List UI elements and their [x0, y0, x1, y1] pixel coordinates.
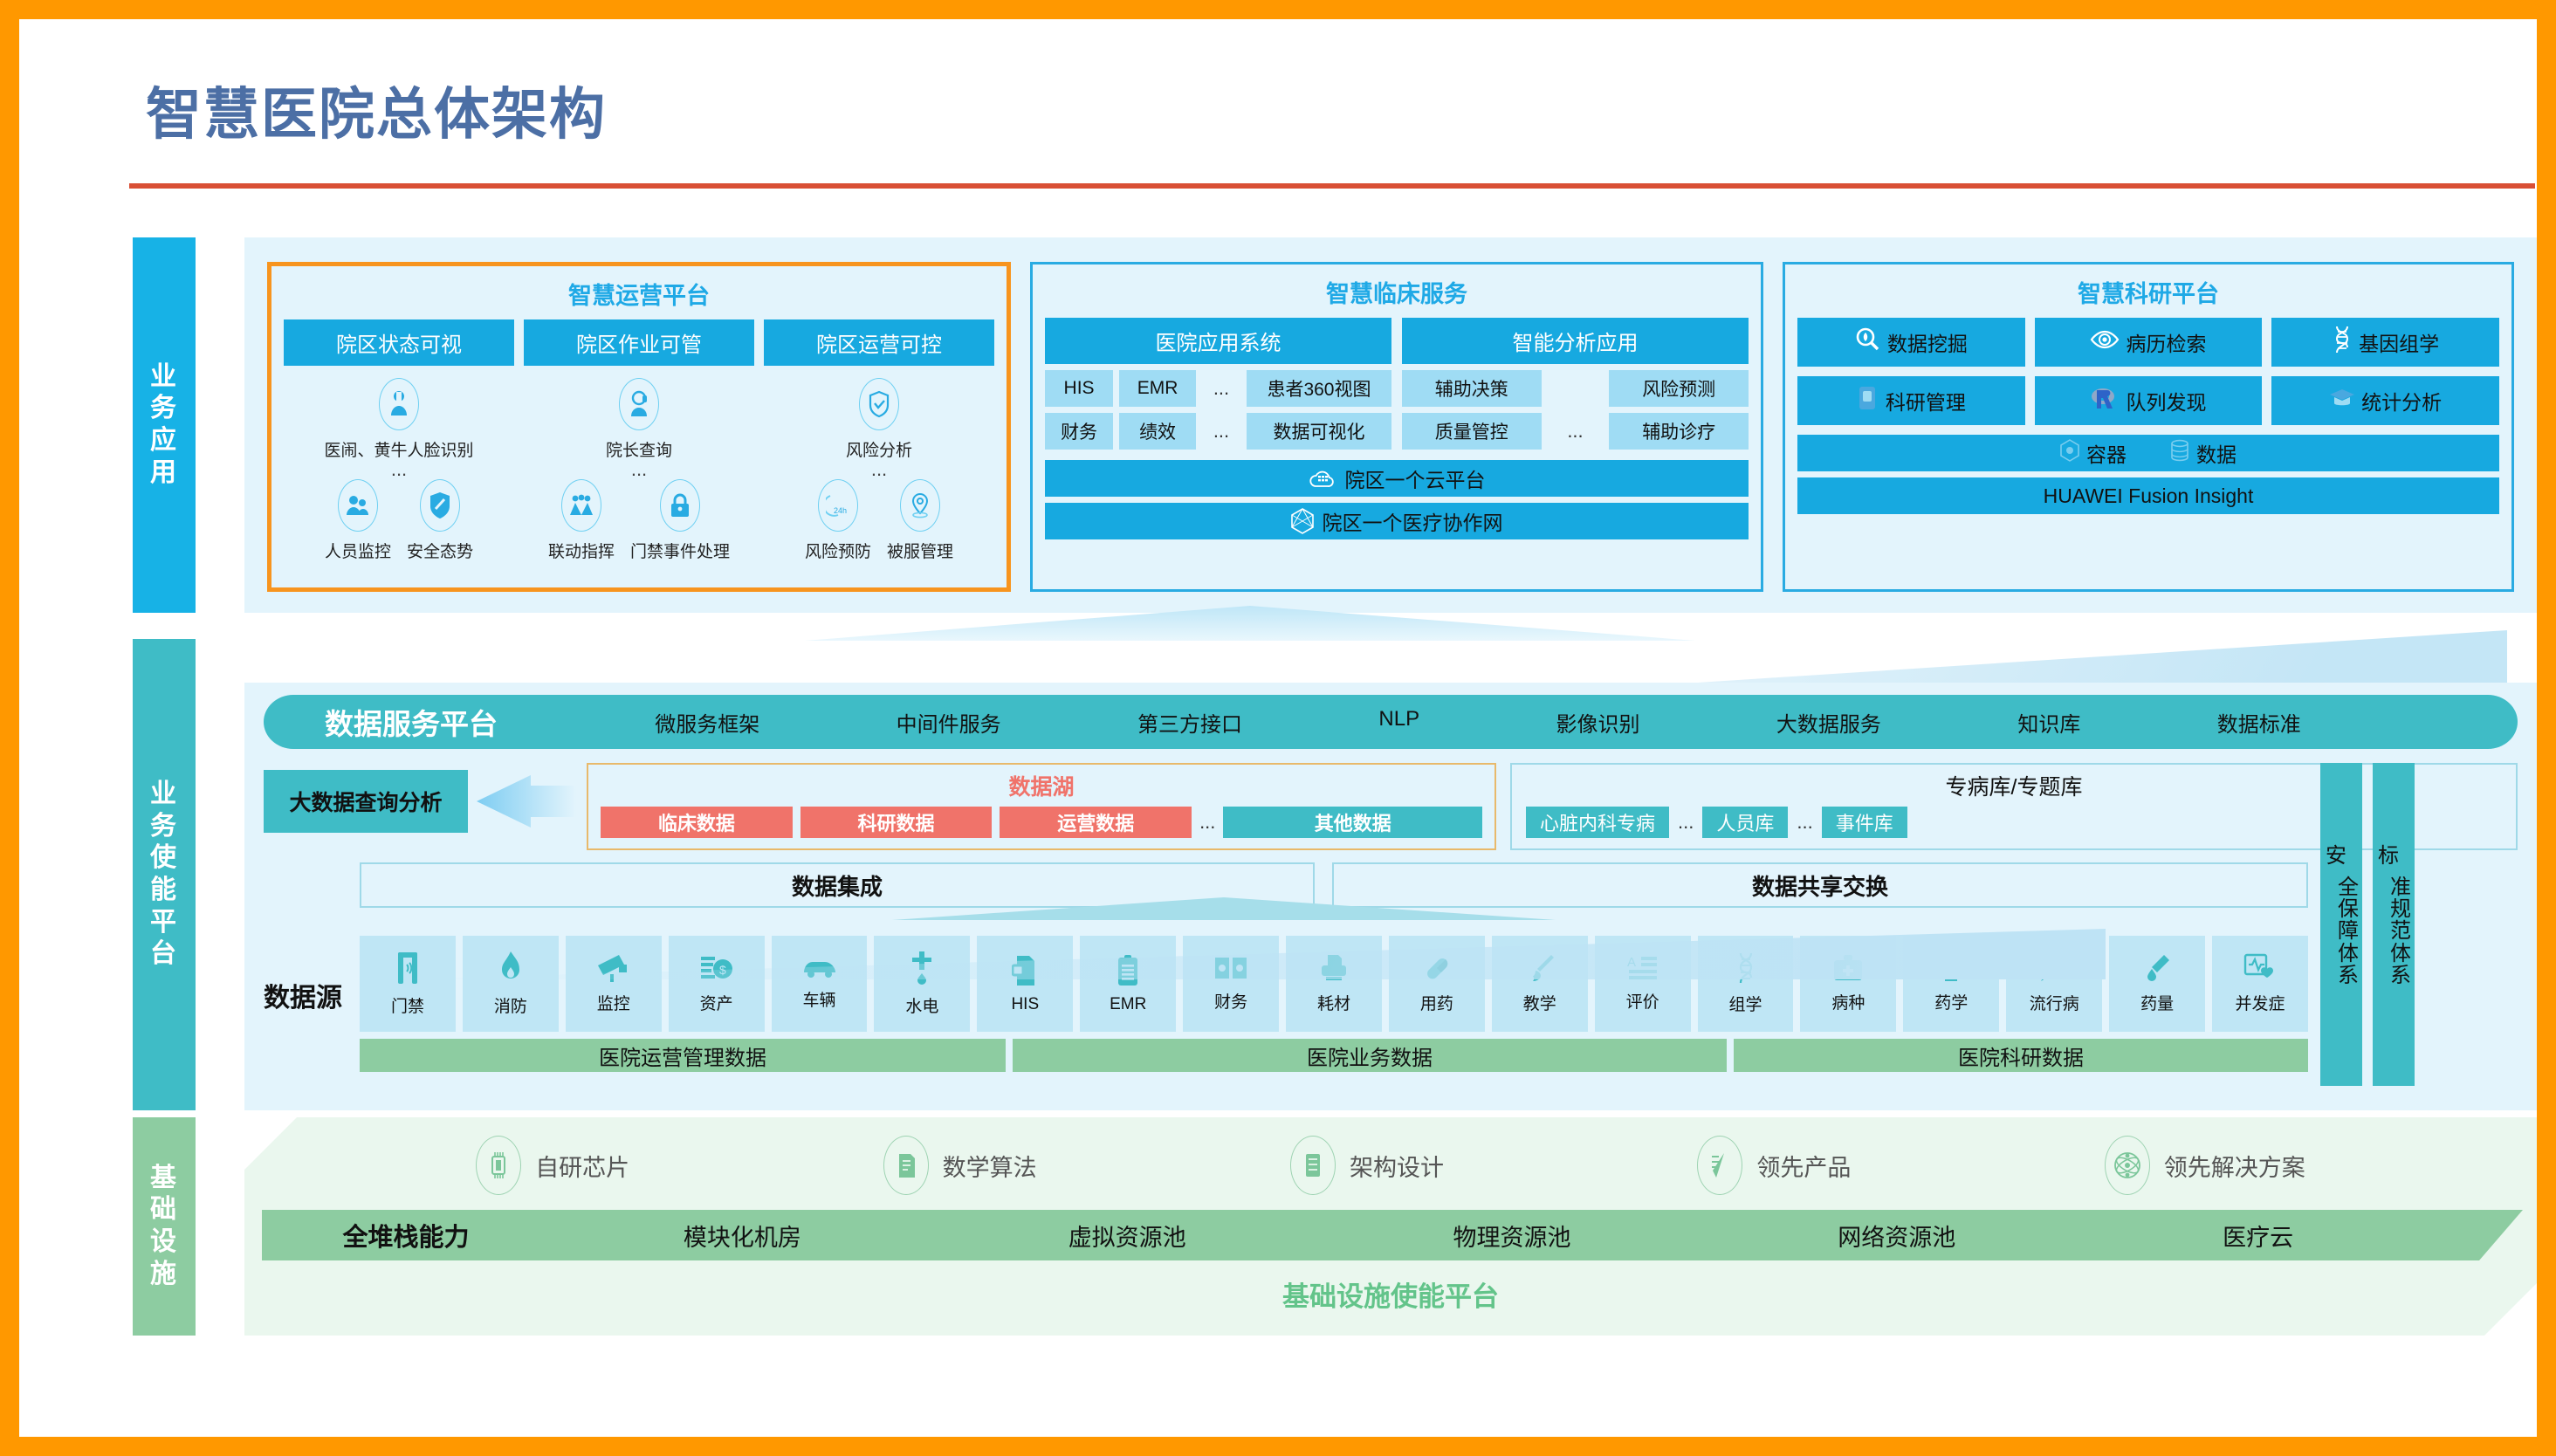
ops-column: 院区状态可视 医闹、黄牛人脸识别 ... 人员监控 安全态势 [284, 319, 514, 562]
analysis-cell[interactable]: 辅助诊疗 [1609, 413, 1749, 450]
people-monitor-icon [338, 479, 378, 532]
capability-algorithm[interactable]: 数学算法 [883, 1136, 1037, 1195]
data-lake-chip[interactable]: 临床数据 [601, 807, 793, 838]
rail-label: 基础设施 [149, 1163, 179, 1290]
ellipsis: ... [1678, 811, 1694, 834]
research-cell-cohort-discovery[interactable]: 队列发现 [2035, 376, 2263, 425]
team-command-icon [561, 479, 601, 532]
data-service-platform-title: 数据服务平台 [325, 701, 587, 743]
big-data-query-box[interactable]: 大数据查询分析 [264, 770, 468, 833]
capability-label: 数学算法 [943, 1149, 1037, 1183]
research-cell-label: 队列发现 [2126, 386, 2206, 416]
clinical-bar-label: 院区一个医疗协作网 [1323, 506, 1503, 536]
source-label: 流行病 [2030, 991, 2079, 1014]
clinical-bar-label: 院区一个云平台 [1345, 464, 1486, 493]
ellipsis: ... [1199, 811, 1215, 834]
app-cell[interactable]: 患者360视图 [1247, 370, 1391, 407]
special-disease-db-box: 专病库/专题库 心脏内科专病 ... 人员库 ... 事件库 [1510, 763, 2518, 850]
capability-solution[interactable]: 领先解决方案 [2105, 1136, 2305, 1195]
resource-pool-item[interactable]: 物理资源池 [1453, 1219, 1570, 1253]
data-lake-other-chip[interactable]: 其他数据 [1223, 807, 1482, 838]
ops-sub-label: 被服管理 [887, 539, 953, 562]
ops-primary-label: 医闹、黄牛人脸识别 [284, 437, 514, 461]
infrastructure-footer-label: 基础设施使能平台 [244, 1274, 2537, 1314]
capability-product[interactable]: 领先产品 [1697, 1136, 1851, 1195]
dsp-item[interactable]: 第三方接口 [1137, 707, 1242, 738]
app-cell[interactable]: 绩效 [1119, 413, 1196, 450]
architecture-rack-icon [1290, 1136, 1336, 1195]
source-label: 监控 [597, 991, 630, 1014]
vertical-band-standards: 标 准规范体系 [2373, 763, 2415, 1086]
dsp-item[interactable]: 中间件服务 [897, 707, 1001, 738]
group-business-data: 医院业务数据 [1013, 1039, 1727, 1072]
data-lake-chip[interactable]: 运营数据 [1000, 807, 1192, 838]
title-divider [129, 183, 2535, 189]
resource-pool-item[interactable]: 网络资源池 [1838, 1219, 1955, 1253]
source-label: 病种 [1831, 990, 1865, 1013]
dsp-item[interactable]: 大数据服务 [1776, 707, 1881, 738]
data-lake-title: 数据湖 [588, 770, 1494, 801]
ops-sub-label: 门禁事件处理 [630, 539, 730, 562]
rail-business-application: 业务应用 [133, 237, 196, 613]
dsp-item[interactable]: 微服务框架 [655, 707, 759, 738]
ops-column: 院区作业可管 院长查询 ... 联动指挥 门禁事件处理 [524, 319, 754, 562]
source-label: 车辆 [803, 987, 836, 1011]
analysis-cell[interactable]: 辅助决策 [1402, 370, 1542, 407]
capability-label: 领先产品 [1756, 1149, 1851, 1183]
special-db-chip[interactable]: 心脏内科专病 [1526, 807, 1669, 838]
ops-column: 院区运营可控 风险分析 ... 24h 风险预防 被服管理 [764, 319, 994, 562]
panel-clinical-service: 智慧临床服务 医院应用系统 HIS EMR ... 患者360视图 财务 绩效 … [1030, 262, 1763, 592]
r-language-icon [2090, 385, 2120, 416]
cctv-camera-icon [596, 953, 631, 987]
source-label: 评价 [1626, 989, 1659, 1013]
algorithm-doc-icon [883, 1136, 929, 1195]
data-source-label: 数据源 [264, 976, 342, 1014]
source-complication[interactable]: 并发症 [2212, 936, 2308, 1032]
location-pin-icon [900, 479, 940, 532]
eye-record-icon [2090, 329, 2120, 355]
research-cell-statistics[interactable]: 统计分析 [2271, 376, 2499, 425]
ops-sub-label: 风险预防 [805, 539, 871, 562]
dsp-item[interactable]: 影像识别 [1556, 707, 1640, 738]
ellipsis: ... [1548, 413, 1604, 450]
ecg-heart-icon [2243, 953, 2277, 987]
research-cell-research-mgmt[interactable]: 科研管理 [1797, 376, 2025, 425]
resource-pool-item[interactable]: 医疗云 [2223, 1219, 2293, 1253]
ellipsis [1548, 370, 1604, 407]
research-bar-label: 容器 [2086, 438, 2127, 468]
research-cell-data-mining[interactable]: 数据挖掘 [1797, 318, 2025, 367]
source-his[interactable]: HIS [977, 936, 1073, 1032]
research-cell-record-search[interactable]: 病历检索 [2035, 318, 2263, 367]
person-badge-icon [379, 378, 419, 430]
source-label: 消防 [494, 993, 527, 1017]
clock-24h-icon: 24h [818, 479, 858, 532]
ellipsis: ... [1202, 370, 1240, 407]
vertical-band-security: 安 全保障体系 [2320, 763, 2362, 1086]
clinical-right-group: 智能分析应用 辅助决策 风险预测 质量管控 ... 辅助诊疗 [1402, 318, 1749, 450]
shield-status-icon [420, 479, 460, 532]
clinical-right-header[interactable]: 智能分析应用 [1402, 318, 1749, 364]
capability-label: 架构设计 [1350, 1149, 1444, 1183]
source-label: 教学 [1523, 991, 1556, 1014]
app-cell[interactable]: HIS [1045, 370, 1113, 407]
source-label: EMR [1110, 995, 1146, 1014]
analysis-cell[interactable]: 风险预测 [1609, 370, 1749, 407]
graduation-cap-icon [2329, 387, 2355, 415]
data-lake-chip[interactable]: 科研数据 [800, 807, 993, 838]
special-db-title: 专病库/专题库 [1512, 770, 2516, 801]
rail-label: 业务使能平台 [149, 779, 179, 971]
source-label: 财务 [1214, 989, 1247, 1013]
research-infra-bar[interactable]: 容器 数据 [1797, 435, 2499, 471]
capability-label: 自研芯片 [535, 1149, 629, 1183]
group-research-data: 医院科研数据 [1734, 1039, 2308, 1072]
data-service-platform-bar: 数据服务平台 微服务框架 中间件服务 第三方接口 NLP 影像识别 大数据服务 … [264, 695, 2518, 749]
research-cell-label: 科研管理 [1886, 386, 1966, 416]
ops-primary-label: 风险分析 [764, 437, 994, 461]
group-operation-data: 医院运营管理数据 [360, 1039, 1006, 1072]
panel-research-platform: 智慧科研平台 数据挖掘 病历检索 基因组学 科研管理 [1783, 262, 2514, 592]
gate-access-icon [395, 951, 421, 990]
source-gate[interactable]: 门禁 [360, 936, 456, 1032]
research-cell-label: 统计分析 [2361, 386, 2442, 416]
panel-title: 智慧临床服务 [1033, 275, 1761, 309]
source-label: 资产 [700, 991, 733, 1014]
research-cell-label: 基因组学 [2359, 327, 2439, 357]
rail-infrastructure: 基础设施 [133, 1117, 196, 1336]
source-label: 门禁 [391, 993, 424, 1017]
ops-column-header[interactable]: 院区作业可管 [524, 319, 754, 366]
lock-icon [660, 479, 700, 532]
flow-arrow-left-icon [470, 773, 576, 829]
solution-globe-icon [2105, 1136, 2150, 1195]
section-business-application: 智慧运营平台 院区状态可视 医闹、黄牛人脸识别 ... 人员监控 [244, 237, 2537, 613]
source-finance[interactable]: 财务 [1183, 936, 1279, 1032]
app-cell[interactable]: 财务 [1045, 413, 1113, 450]
container-cube-icon [2060, 439, 2079, 467]
data-service-platform-items: 微服务框架 中间件服务 第三方接口 NLP 影像识别 大数据服务 知识库 数据标… [587, 707, 2518, 738]
research-cell-label: 数据挖掘 [1887, 327, 1968, 357]
source-label: 组学 [1729, 992, 1762, 1015]
clinical-cloud-bar[interactable]: 院区一个云平台 [1045, 460, 1749, 497]
rail-enablement-platform: 业务使能平台 [133, 639, 196, 1110]
cloud-platform-icon [1309, 467, 1336, 490]
database-icon [2170, 439, 2189, 467]
special-db-chip[interactable]: 事件库 [1822, 807, 1907, 838]
research-cell-label: 病历检索 [2126, 327, 2206, 357]
ops-column-header[interactable]: 院区状态可视 [284, 319, 514, 366]
leading-product-icon [1697, 1136, 1742, 1195]
capability-chip[interactable]: 自研芯片 [476, 1136, 629, 1195]
ops-column-header[interactable]: 院区运营可控 [764, 319, 994, 366]
special-db-chip[interactable]: 人员库 [1702, 807, 1788, 838]
research-bar-label: 数据 [2196, 438, 2236, 468]
source-cctv[interactable]: 监控 [566, 936, 662, 1032]
ellipsis: ... [764, 463, 994, 476]
page-title: 智慧医院总体架构 [146, 70, 607, 150]
rail-label: 业务应用 [149, 361, 179, 489]
band-head: 标 [2378, 838, 2399, 869]
headset-agent-icon [619, 378, 659, 430]
dsp-item[interactable]: 知识库 [2017, 707, 2080, 738]
capability-label: 领先解决方案 [2164, 1149, 2305, 1183]
architecture-diagram: 智慧医院总体架构 业务应用 业务使能平台 基础设施 智慧运营平台 院区状态可视 … [19, 19, 2537, 1437]
source-vehicle[interactable]: 车辆 [772, 936, 868, 1032]
dropper-icon [2143, 953, 2171, 987]
research-cell-genomics[interactable]: 基因组学 [2271, 318, 2499, 367]
app-cell[interactable]: 数据可视化 [1247, 413, 1391, 450]
infrastructure-capabilities: 自研芯片 数学算法 架构设计 领先产品 领先解决方案 [244, 1128, 2537, 1203]
source-fire[interactable]: 消防 [463, 936, 559, 1032]
panel-title: 智慧科研平台 [1785, 275, 2511, 309]
ellipsis: ... [1202, 413, 1240, 450]
dna-icon [2332, 326, 2353, 359]
dsp-item[interactable]: NLP [1378, 707, 1419, 738]
band-rest: 全保障体系 [2338, 876, 2360, 986]
chip-icon [476, 1136, 521, 1195]
network-mesh-icon [1291, 508, 1314, 534]
section-enablement-platform: 数据服务平台 微服务框架 中间件服务 第三方接口 NLP 影像识别 大数据服务 … [244, 683, 2537, 1110]
clinical-network-bar[interactable]: 院区一个医疗协作网 [1045, 503, 1749, 539]
app-cell[interactable]: EMR [1119, 370, 1196, 407]
source-dosage[interactable]: 药量 [2109, 936, 2205, 1032]
data-sharing-exchange-box[interactable]: 数据共享交换 [1332, 862, 2308, 908]
data-lake-box: 数据湖 临床数据 科研数据 运营数据 ... 其他数据 [587, 763, 1496, 850]
clinical-left-header[interactable]: 医院应用系统 [1045, 318, 1391, 364]
clinical-left-group: 医院应用系统 HIS EMR ... 患者360视图 财务 绩效 ... 数据可… [1045, 318, 1391, 450]
band-rest: 准规范体系 [2390, 876, 2413, 986]
dsp-item[interactable]: 数据标准 [2217, 707, 2301, 738]
ops-primary-label: 院长查询 [524, 437, 754, 461]
ellipsis: ... [284, 463, 514, 476]
band-head: 安 [2326, 838, 2346, 869]
ellipsis: ... [1797, 811, 1812, 834]
folder-research-icon [1857, 385, 1879, 416]
ops-sub-label: 联动指挥 [548, 539, 615, 562]
source-label: 药量 [2140, 991, 2174, 1014]
source-label: 并发症 [2235, 991, 2285, 1014]
analysis-cell[interactable]: 质量管控 [1402, 413, 1542, 450]
fire-flame-icon [499, 951, 522, 990]
panel-smart-operations: 智慧运营平台 院区状态可视 医闹、黄牛人脸识别 ... 人员监控 [267, 262, 1011, 592]
source-utilities[interactable]: 水电 [874, 936, 970, 1032]
infrastructure-resource-bar: 全堆栈能力 模块化机房 虚拟资源池 物理资源池 网络资源池 医疗云 [262, 1210, 2523, 1260]
research-fusion-insight-bar[interactable]: HUAWEI Fusion Insight [1797, 477, 2499, 514]
source-label: 药学 [1934, 990, 1968, 1013]
source-label: 耗材 [1317, 991, 1350, 1014]
ellipsis: ... [524, 463, 754, 476]
source-consumables[interactable]: 耗材 [1286, 936, 1382, 1032]
source-label: HIS [1011, 995, 1039, 1014]
ops-sub-label: 人员监控 [325, 539, 391, 562]
source-label: 用药 [1420, 991, 1453, 1014]
source-label: 水电 [905, 993, 938, 1017]
svg-text:24h: 24h [834, 506, 847, 515]
resource-pool-item[interactable]: 模块化机房 [684, 1219, 801, 1253]
magnifier-data-icon [1855, 326, 1881, 358]
source-emr[interactable]: EMR [1080, 936, 1176, 1032]
resource-pool-item[interactable]: 虚拟资源池 [1068, 1219, 1186, 1253]
shield-check-icon [859, 378, 899, 430]
source-asset[interactable]: $资产 [669, 936, 765, 1032]
panel-title: 智慧运营平台 [271, 277, 1007, 311]
full-stack-label: 全堆栈能力 [262, 1217, 550, 1253]
capability-architecture[interactable]: 架构设计 [1290, 1136, 1444, 1195]
ops-sub-label: 安全态势 [407, 539, 473, 562]
